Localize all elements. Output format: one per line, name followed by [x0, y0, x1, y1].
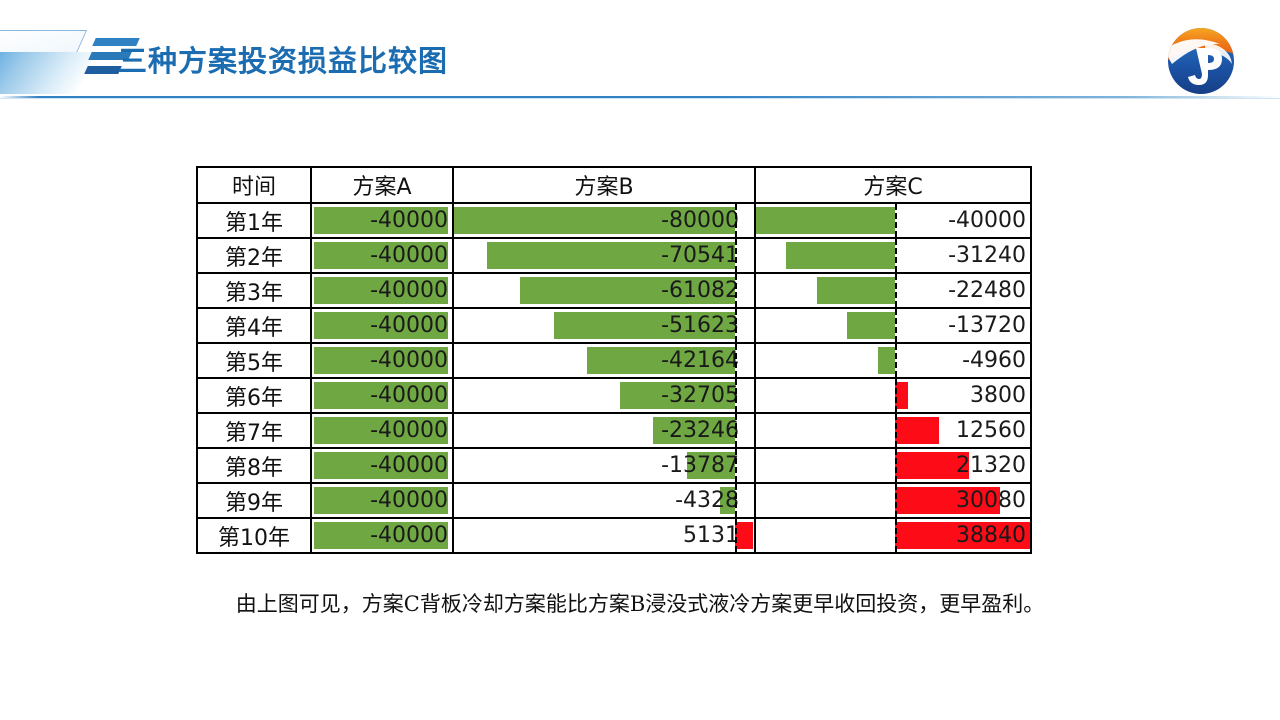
cell-plan-c: 21320	[755, 448, 1031, 483]
value-plan-b: -42164	[661, 344, 739, 377]
table-row: 第10年-40000513138840	[197, 518, 1031, 553]
cell-plan-c: 3800	[755, 378, 1031, 413]
cell-plan-b: 5131	[453, 518, 755, 553]
cell-plan-b: -51623	[453, 308, 755, 343]
decorative-parallelogram-filled	[0, 52, 95, 94]
cell-plan-a: -40000	[311, 273, 453, 308]
zero-axis-plan-b	[735, 449, 737, 482]
cell-plan-b: -70541	[453, 238, 755, 273]
table-row: 第7年-40000-2324612560	[197, 413, 1031, 448]
zero-axis-plan-c	[895, 204, 897, 237]
value-plan-b: -80000	[661, 204, 739, 237]
zero-axis-plan-c	[895, 484, 897, 517]
zero-axis-plan-c	[895, 449, 897, 482]
company-logo-icon	[1160, 20, 1242, 102]
slide-header: 三种方案投资损益比较图	[0, 0, 1280, 100]
value-plan-a: -40000	[370, 309, 448, 342]
cell-plan-b: -23246	[453, 413, 755, 448]
slide-caption: 由上图可见，方案C背板冷却方案能比方案B浸没式液冷方案更早收回投资，更早盈利。	[0, 588, 1280, 618]
zero-axis-plan-b	[735, 344, 737, 377]
table-row: 第1年-40000-80000-40000	[197, 203, 1031, 238]
cell-plan-c: -4960	[755, 343, 1031, 378]
zero-axis-plan-c	[895, 309, 897, 342]
value-plan-c: 38840	[956, 519, 1026, 552]
value-plan-c: -22480	[948, 274, 1026, 307]
cell-plan-a: -40000	[311, 238, 453, 273]
cell-plan-c: 30080	[755, 483, 1031, 518]
zero-axis-plan-c	[895, 379, 897, 412]
row-label-year: 第5年	[197, 343, 311, 378]
cell-plan-b: -61082	[453, 273, 755, 308]
cell-plan-c: 38840	[755, 518, 1031, 553]
cell-plan-a: -40000	[311, 518, 453, 553]
row-label-year: 第10年	[197, 518, 311, 553]
zero-axis-plan-b	[735, 519, 737, 552]
value-plan-b: -70541	[661, 239, 739, 272]
table-row: 第9年-40000-432830080	[197, 483, 1031, 518]
data-bar-plan-c	[786, 242, 895, 269]
table-header-row: 时间 方案A 方案B 方案C	[197, 167, 1031, 203]
value-plan-c: -31240	[948, 239, 1026, 272]
value-plan-b: 5131	[683, 519, 739, 552]
row-label-year: 第3年	[197, 273, 311, 308]
value-plan-a: -40000	[370, 414, 448, 447]
column-header-plan-b: 方案B	[453, 167, 755, 203]
zero-axis-plan-c	[895, 519, 897, 552]
value-plan-c: -4960	[962, 344, 1026, 377]
zero-axis-plan-c	[895, 344, 897, 377]
value-plan-c: -13720	[948, 309, 1026, 342]
cell-plan-b: -42164	[453, 343, 755, 378]
zero-axis-plan-c	[895, 239, 897, 272]
table-row: 第5年-40000-42164-4960	[197, 343, 1031, 378]
cell-plan-a: -40000	[311, 378, 453, 413]
value-plan-b: -23246	[661, 414, 739, 447]
value-plan-c: 12560	[956, 414, 1026, 447]
zero-axis-plan-b	[735, 414, 737, 447]
table-body: 第1年-40000-80000-40000第2年-40000-70541-312…	[197, 203, 1031, 553]
value-plan-a: -40000	[370, 274, 448, 307]
investment-comparison-table: 时间 方案A 方案B 方案C 第1年-40000-80000-40000第2年-…	[196, 166, 1032, 554]
row-label-year: 第4年	[197, 308, 311, 343]
cell-plan-c: -22480	[755, 273, 1031, 308]
table-row: 第6年-40000-327053800	[197, 378, 1031, 413]
cell-plan-b: -32705	[453, 378, 755, 413]
decorative-bar-3	[84, 66, 122, 74]
zero-axis-plan-b	[735, 309, 737, 342]
cell-plan-a: -40000	[311, 308, 453, 343]
cell-plan-a: -40000	[311, 203, 453, 238]
data-bar-plan-c	[817, 277, 895, 304]
cell-plan-b: -13787	[453, 448, 755, 483]
value-plan-c: 30080	[956, 484, 1026, 517]
cell-plan-c: -31240	[755, 238, 1031, 273]
value-plan-b: -61082	[661, 274, 739, 307]
row-label-year: 第8年	[197, 448, 311, 483]
cell-plan-b: -4328	[453, 483, 755, 518]
cell-plan-c: -13720	[755, 308, 1031, 343]
value-plan-a: -40000	[370, 204, 448, 237]
zero-axis-plan-b	[735, 274, 737, 307]
row-label-year: 第1年	[197, 203, 311, 238]
cell-plan-a: -40000	[311, 413, 453, 448]
cell-plan-a: -40000	[311, 483, 453, 518]
value-plan-a: -40000	[370, 449, 448, 482]
data-bar-plan-c	[756, 207, 895, 234]
value-plan-c: 21320	[956, 449, 1026, 482]
zero-axis-plan-b	[735, 239, 737, 272]
zero-axis-plan-c	[895, 274, 897, 307]
zero-axis-plan-c	[895, 414, 897, 447]
zero-axis-plan-b	[735, 204, 737, 237]
cell-plan-c: 12560	[755, 413, 1031, 448]
data-bar-plan-c	[847, 312, 895, 339]
column-header-time: 时间	[197, 167, 311, 203]
table-row: 第3年-40000-61082-22480	[197, 273, 1031, 308]
row-label-year: 第7年	[197, 413, 311, 448]
value-plan-a: -40000	[370, 519, 448, 552]
data-bar-plan-c	[895, 417, 939, 444]
data-bar-plan-c	[878, 347, 895, 374]
cell-plan-a: -40000	[311, 343, 453, 378]
table-row: 第2年-40000-70541-31240	[197, 238, 1031, 273]
zero-axis-plan-b	[735, 484, 737, 517]
value-plan-c: -40000	[948, 204, 1026, 237]
value-plan-a: -40000	[370, 484, 448, 517]
value-plan-a: -40000	[370, 344, 448, 377]
column-header-plan-c: 方案C	[755, 167, 1031, 203]
row-label-year: 第2年	[197, 238, 311, 273]
value-plan-a: -40000	[370, 239, 448, 272]
value-plan-c: 3800	[970, 379, 1026, 412]
row-label-year: 第9年	[197, 483, 311, 518]
cell-plan-b: -80000	[453, 203, 755, 238]
row-label-year: 第6年	[197, 378, 311, 413]
value-plan-b: -13787	[661, 449, 739, 482]
column-header-plan-a: 方案A	[311, 167, 453, 203]
page-title: 三种方案投资损益比较图	[118, 38, 448, 80]
value-plan-a: -40000	[370, 379, 448, 412]
cell-plan-c: -40000	[755, 203, 1031, 238]
value-plan-b: -32705	[661, 379, 739, 412]
value-plan-b: -4328	[675, 484, 739, 517]
cell-plan-a: -40000	[311, 448, 453, 483]
value-plan-b: -51623	[661, 309, 739, 342]
table-row: 第8年-40000-1378721320	[197, 448, 1031, 483]
zero-axis-plan-b	[735, 379, 737, 412]
table-row: 第4年-40000-51623-13720	[197, 308, 1031, 343]
header-divider-light	[0, 98, 1280, 99]
